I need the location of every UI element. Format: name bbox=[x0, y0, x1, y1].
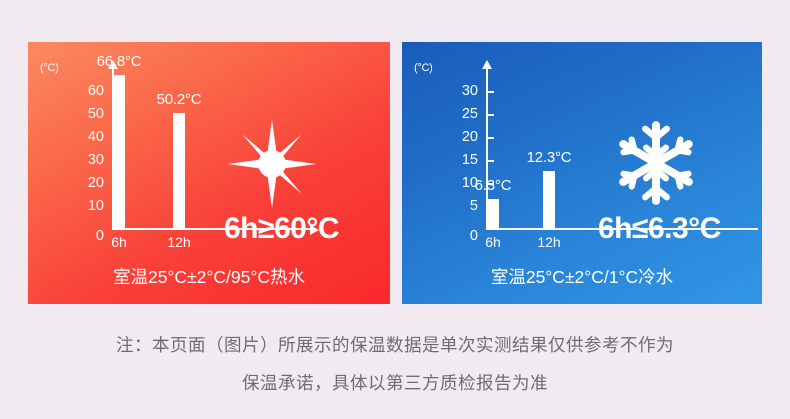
hot-chart-bar-value-6h: 66.8°C bbox=[97, 53, 142, 70]
hot-chart-y-unit: (°C) bbox=[40, 62, 58, 74]
disclaimer-note-line-1: 注：本页面（图片）所展示的保温数据是单次实测结果仅供参考不作为 bbox=[0, 326, 790, 364]
hot-water-panel: (°C) 60 50 40 30 20 10 0 66.8°C 50.2 bbox=[28, 42, 390, 304]
hot-chart-y-tick-label: 10 bbox=[78, 198, 104, 214]
cold-chart-y-tick bbox=[488, 91, 494, 93]
hot-chart-y-tick-label: 30 bbox=[78, 152, 104, 168]
cold-chart-bar-6h bbox=[487, 199, 499, 228]
disclaimer-note-line-2: 保温承诺，具体以第三方质检报告为准 bbox=[0, 364, 790, 402]
cold-chart-y-tick-label: 20 bbox=[452, 129, 478, 145]
cold-chart-bar-value-6h: 6.3°C bbox=[475, 177, 512, 194]
hot-chart-bar-12h bbox=[173, 113, 185, 228]
cold-chart-y-unit: (°C) bbox=[414, 62, 432, 74]
cold-chart-bar-value-12h: 12.3°C bbox=[527, 149, 572, 166]
cold-chart-y-tick-label: 0 bbox=[452, 228, 478, 244]
cold-chart-y-tick-label: 5 bbox=[452, 198, 478, 214]
cold-chart-y-tick bbox=[488, 137, 494, 139]
hot-chart-bar-6h bbox=[113, 75, 125, 228]
disclaimer-note: 注：本页面（图片）所展示的保温数据是单次实测结果仅供参考不作为 保温承诺，具体以… bbox=[0, 326, 790, 402]
sun-icon bbox=[224, 118, 320, 210]
hot-chart-y-tick-label: 20 bbox=[78, 175, 104, 191]
hot-caption: 室温25°C±2°C/95°C热水 bbox=[28, 248, 390, 304]
hot-chart-y-tick-label: 60 bbox=[78, 83, 104, 99]
cold-chart-y-tick-label: 25 bbox=[452, 106, 478, 122]
comparison-panels: (°C) 60 50 40 30 20 10 0 66.8°C 50.2 bbox=[0, 0, 790, 310]
cold-chart-y-tick bbox=[488, 160, 494, 162]
snowflake-icon bbox=[608, 118, 704, 210]
hot-chart-y-tick-label: 40 bbox=[78, 129, 104, 145]
hot-chart-bar-value-12h: 50.2°C bbox=[157, 91, 202, 108]
cold-caption: 室温25°C±2°C/1°C冷水 bbox=[402, 248, 762, 304]
hot-chart-y-tick-label: 0 bbox=[78, 228, 104, 244]
cold-chart-bar-12h bbox=[543, 171, 555, 228]
cold-chart-y-tick-label: 30 bbox=[452, 83, 478, 99]
cold-headline: 6h≤6.3°C bbox=[598, 212, 721, 246]
cold-water-panel: (°C) 30 25 20 15 10 5 0 6.3°C 12.3°C 6h … bbox=[402, 42, 762, 304]
cold-chart-y-tick-label: 15 bbox=[452, 152, 478, 168]
hot-headline: 6h≥60°C bbox=[224, 212, 339, 246]
hot-chart-y-tick-label: 50 bbox=[78, 106, 104, 122]
cold-chart-y-tick bbox=[488, 114, 494, 116]
